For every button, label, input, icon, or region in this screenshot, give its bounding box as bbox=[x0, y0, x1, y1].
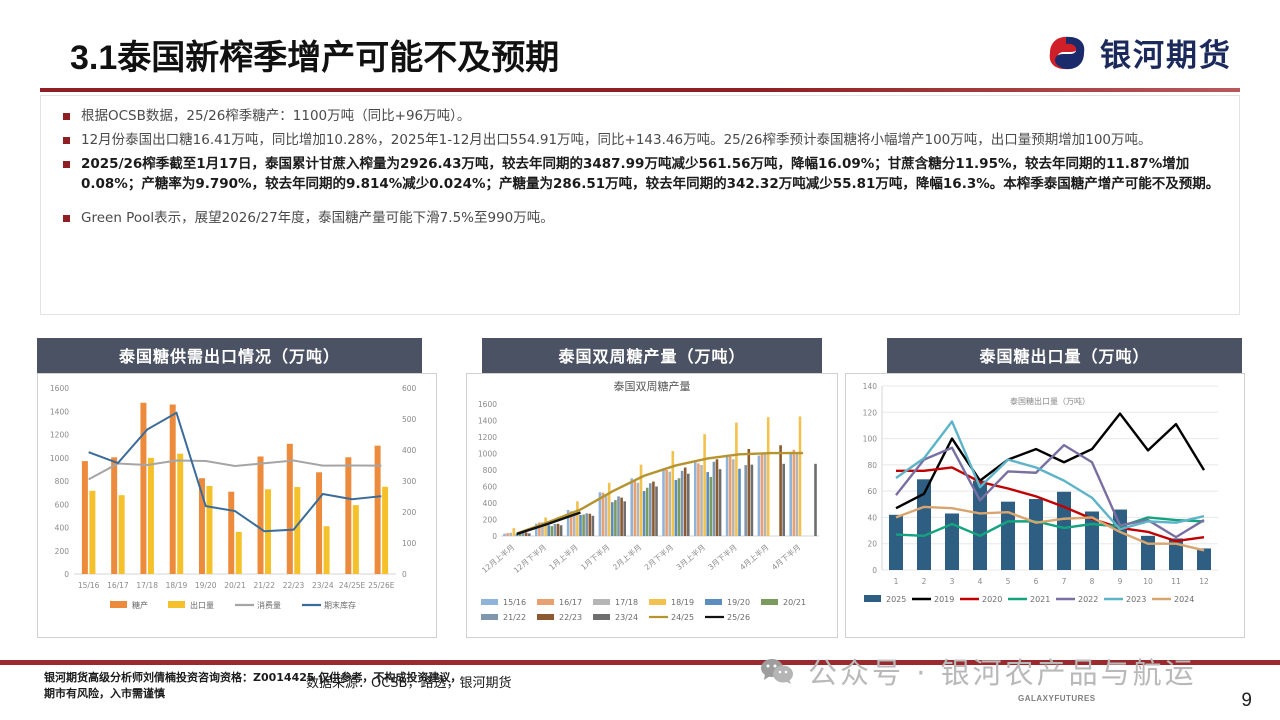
chart-panel-exports: 泰国糖出口量（万吨） 020406080100120140泰国糖出口量（万吨）1… bbox=[845, 338, 1245, 638]
svg-text:600: 600 bbox=[402, 384, 417, 393]
chart-canvas-biweekly[interactable]: 泰国双周糖产量 0200400600800100012001400160012月… bbox=[466, 373, 838, 638]
svg-text:600: 600 bbox=[55, 500, 70, 509]
bullet-text: 根据OCSB数据，25/26榨季糖产：1100万吨（同比+96万吨）。 bbox=[81, 106, 470, 126]
svg-text:0: 0 bbox=[64, 570, 69, 579]
svg-text:60: 60 bbox=[867, 487, 877, 496]
svg-text:400: 400 bbox=[55, 524, 70, 533]
svg-text:4: 4 bbox=[978, 577, 983, 586]
svg-text:1000: 1000 bbox=[478, 450, 497, 459]
svg-text:12月上半月: 12月上半月 bbox=[479, 542, 516, 575]
svg-text:1400: 1400 bbox=[50, 407, 69, 416]
chart-inner-title: 泰国双周糖产量 bbox=[467, 374, 837, 394]
svg-text:5: 5 bbox=[1006, 577, 1011, 586]
svg-text:15/16: 15/16 bbox=[503, 598, 526, 607]
svg-text:22/23: 22/23 bbox=[559, 613, 582, 622]
svg-text:400: 400 bbox=[483, 499, 498, 508]
svg-text:24/25: 24/25 bbox=[671, 613, 694, 622]
panel-title: 泰国双周糖产量（万吨） bbox=[482, 338, 822, 373]
svg-text:9: 9 bbox=[1118, 577, 1123, 586]
svg-text:100: 100 bbox=[402, 539, 417, 548]
svg-text:出口量: 出口量 bbox=[190, 600, 214, 610]
svg-text:4月下半月: 4月下半月 bbox=[769, 542, 802, 572]
svg-text:40: 40 bbox=[867, 513, 877, 522]
svg-text:200: 200 bbox=[483, 516, 498, 525]
svg-text:23/24: 23/24 bbox=[312, 581, 334, 590]
panel-title: 泰国糖出口量（万吨） bbox=[887, 338, 1242, 373]
svg-text:12月下半月: 12月下半月 bbox=[511, 542, 548, 575]
svg-text:12: 12 bbox=[1199, 577, 1209, 586]
svg-text:1600: 1600 bbox=[478, 400, 497, 409]
svg-text:140: 140 bbox=[863, 382, 878, 391]
svg-text:3: 3 bbox=[950, 577, 955, 586]
svg-text:120: 120 bbox=[863, 408, 878, 417]
bullet-item: 根据OCSB数据，25/26榨季糖产：1100万吨（同比+96万吨）。 bbox=[41, 106, 1239, 126]
bullet-text: 2025/26榨季截至1月17日，泰国累计甘蔗入榨量为2926.43万吨，较去年… bbox=[81, 154, 1223, 194]
svg-text:7: 7 bbox=[1062, 577, 1067, 586]
svg-text:1: 1 bbox=[894, 577, 899, 586]
brand-logo: 银河期货 bbox=[1044, 30, 1232, 75]
chart-canvas-supply-demand[interactable]: 0200400600800100012001400160001002003004… bbox=[37, 373, 437, 638]
svg-text:600: 600 bbox=[483, 483, 498, 492]
svg-text:2月上半月: 2月上半月 bbox=[610, 542, 643, 572]
svg-text:20: 20 bbox=[867, 540, 877, 549]
svg-text:17/18: 17/18 bbox=[615, 598, 638, 607]
svg-text:23/24: 23/24 bbox=[615, 613, 638, 622]
svg-text:16/17: 16/17 bbox=[107, 581, 129, 590]
svg-text:200: 200 bbox=[55, 547, 70, 556]
svg-text:2022: 2022 bbox=[1078, 595, 1098, 604]
svg-text:19/20: 19/20 bbox=[727, 598, 750, 607]
svg-text:8: 8 bbox=[1090, 577, 1095, 586]
svg-text:2024: 2024 bbox=[1174, 595, 1194, 604]
svg-text:21/22: 21/22 bbox=[253, 581, 275, 590]
bullet-item: Green Pool表示，展望2026/27年度，泰国糖产量可能下滑7.5%至9… bbox=[41, 208, 1239, 228]
svg-text:期末库存: 期末库存 bbox=[324, 600, 356, 610]
svg-text:15/16: 15/16 bbox=[78, 581, 100, 590]
svg-text:0: 0 bbox=[492, 532, 497, 541]
galaxy-swirl-logo-icon bbox=[1044, 33, 1090, 73]
svg-text:25/26: 25/26 bbox=[727, 613, 750, 622]
bullet-square-icon bbox=[63, 113, 70, 120]
svg-text:400: 400 bbox=[402, 446, 417, 455]
chart-canvas-exports[interactable]: 020406080100120140泰国糖出口量（万吨）123456789101… bbox=[845, 373, 1245, 638]
svg-text:0: 0 bbox=[402, 570, 407, 579]
svg-text:1月上半月: 1月上半月 bbox=[547, 542, 580, 572]
svg-text:1400: 1400 bbox=[478, 417, 497, 426]
summary-card: 根据OCSB数据，25/26榨季糖产：1100万吨（同比+96万吨）。 12月份… bbox=[40, 95, 1240, 315]
svg-text:200: 200 bbox=[402, 508, 417, 517]
brand-name: 银河期货 bbox=[1100, 30, 1232, 75]
svg-text:16/17: 16/17 bbox=[559, 598, 582, 607]
svg-text:2025: 2025 bbox=[886, 595, 906, 604]
svg-text:500: 500 bbox=[402, 415, 417, 424]
svg-text:10: 10 bbox=[1143, 577, 1153, 586]
svg-text:2023: 2023 bbox=[1126, 595, 1146, 604]
svg-text:100: 100 bbox=[863, 435, 878, 444]
watermark: 公众号 · 银河农产品与航运 bbox=[760, 650, 1197, 692]
svg-text:24/25E: 24/25E bbox=[339, 581, 366, 590]
svg-text:泰国糖出口量（万吨）: 泰国糖出口量（万吨） bbox=[1010, 396, 1090, 406]
svg-text:17/18: 17/18 bbox=[136, 581, 158, 590]
svg-text:21/22: 21/22 bbox=[503, 613, 526, 622]
svg-text:20/21: 20/21 bbox=[224, 581, 246, 590]
svg-text:19/20: 19/20 bbox=[195, 581, 217, 590]
svg-text:1600: 1600 bbox=[50, 384, 69, 393]
svg-text:300: 300 bbox=[402, 477, 417, 486]
svg-text:80: 80 bbox=[867, 461, 877, 470]
svg-text:2021: 2021 bbox=[1030, 595, 1050, 604]
bullet-item: 12月份泰国出口糖16.41万吨，同比增加10.28%，2025年1-12月出口… bbox=[41, 130, 1239, 150]
svg-text:1月下半月: 1月下半月 bbox=[579, 542, 612, 572]
source-note: 数据来源：OCSB，路透，银河期货 bbox=[306, 672, 511, 691]
panel-title: 泰国糖供需出口情况（万吨） bbox=[37, 338, 422, 373]
svg-text:20/21: 20/21 bbox=[783, 598, 806, 607]
svg-text:2: 2 bbox=[922, 577, 927, 586]
watermark-text: 公众号 · 银河农产品与航运 bbox=[808, 650, 1197, 692]
svg-text:2月下半月: 2月下半月 bbox=[642, 542, 675, 572]
svg-text:18/19: 18/19 bbox=[671, 598, 694, 607]
svg-text:800: 800 bbox=[55, 477, 70, 486]
wechat-icon bbox=[760, 657, 794, 685]
svg-text:1200: 1200 bbox=[478, 433, 497, 442]
svg-text:25/26E: 25/26E bbox=[368, 581, 395, 590]
svg-text:3月上半月: 3月上半月 bbox=[674, 542, 707, 572]
page-number: 9 bbox=[1241, 690, 1252, 712]
svg-text:18/19: 18/19 bbox=[166, 581, 188, 590]
bullet-text: Green Pool表示，展望2026/27年度，泰国糖产量可能下滑7.5%至9… bbox=[81, 208, 554, 228]
bullet-square-icon bbox=[63, 161, 70, 168]
svg-text:0: 0 bbox=[872, 566, 877, 575]
svg-text:1000: 1000 bbox=[50, 454, 69, 463]
page-title: 3.1泰国新榨季增产可能不及预期 bbox=[70, 30, 559, 79]
svg-text:4月上半月: 4月上半月 bbox=[738, 542, 771, 572]
svg-text:消费量: 消费量 bbox=[257, 600, 281, 610]
bullet-item: 2025/26榨季截至1月17日，泰国累计甘蔗入榨量为2926.43万吨，较去年… bbox=[41, 154, 1239, 194]
svg-text:糖产: 糖产 bbox=[132, 600, 148, 610]
bullet-square-icon bbox=[63, 215, 70, 222]
svg-text:2019: 2019 bbox=[934, 595, 954, 604]
title-divider bbox=[40, 88, 1240, 92]
bullet-text: 12月份泰国出口糖16.41万吨，同比增加10.28%，2025年1-12月出口… bbox=[81, 130, 1152, 150]
svg-text:11: 11 bbox=[1171, 577, 1181, 586]
svg-text:22/23: 22/23 bbox=[283, 581, 305, 590]
svg-text:800: 800 bbox=[483, 466, 498, 475]
svg-text:2020: 2020 bbox=[982, 595, 1002, 604]
svg-text:6: 6 bbox=[1034, 577, 1039, 586]
chart-panel-supply-demand: 泰国糖供需出口情况（万吨） 02004006008001000120014001… bbox=[37, 338, 437, 638]
svg-text:3月下半月: 3月下半月 bbox=[706, 542, 739, 572]
chart-panel-biweekly: 泰国双周糖产量（万吨） 泰国双周糖产量 02004006008001000120… bbox=[466, 338, 838, 638]
bullet-square-icon bbox=[63, 137, 70, 144]
watermark-subtext: GALAXYFUTURES bbox=[1018, 694, 1096, 703]
svg-text:1200: 1200 bbox=[50, 431, 69, 440]
